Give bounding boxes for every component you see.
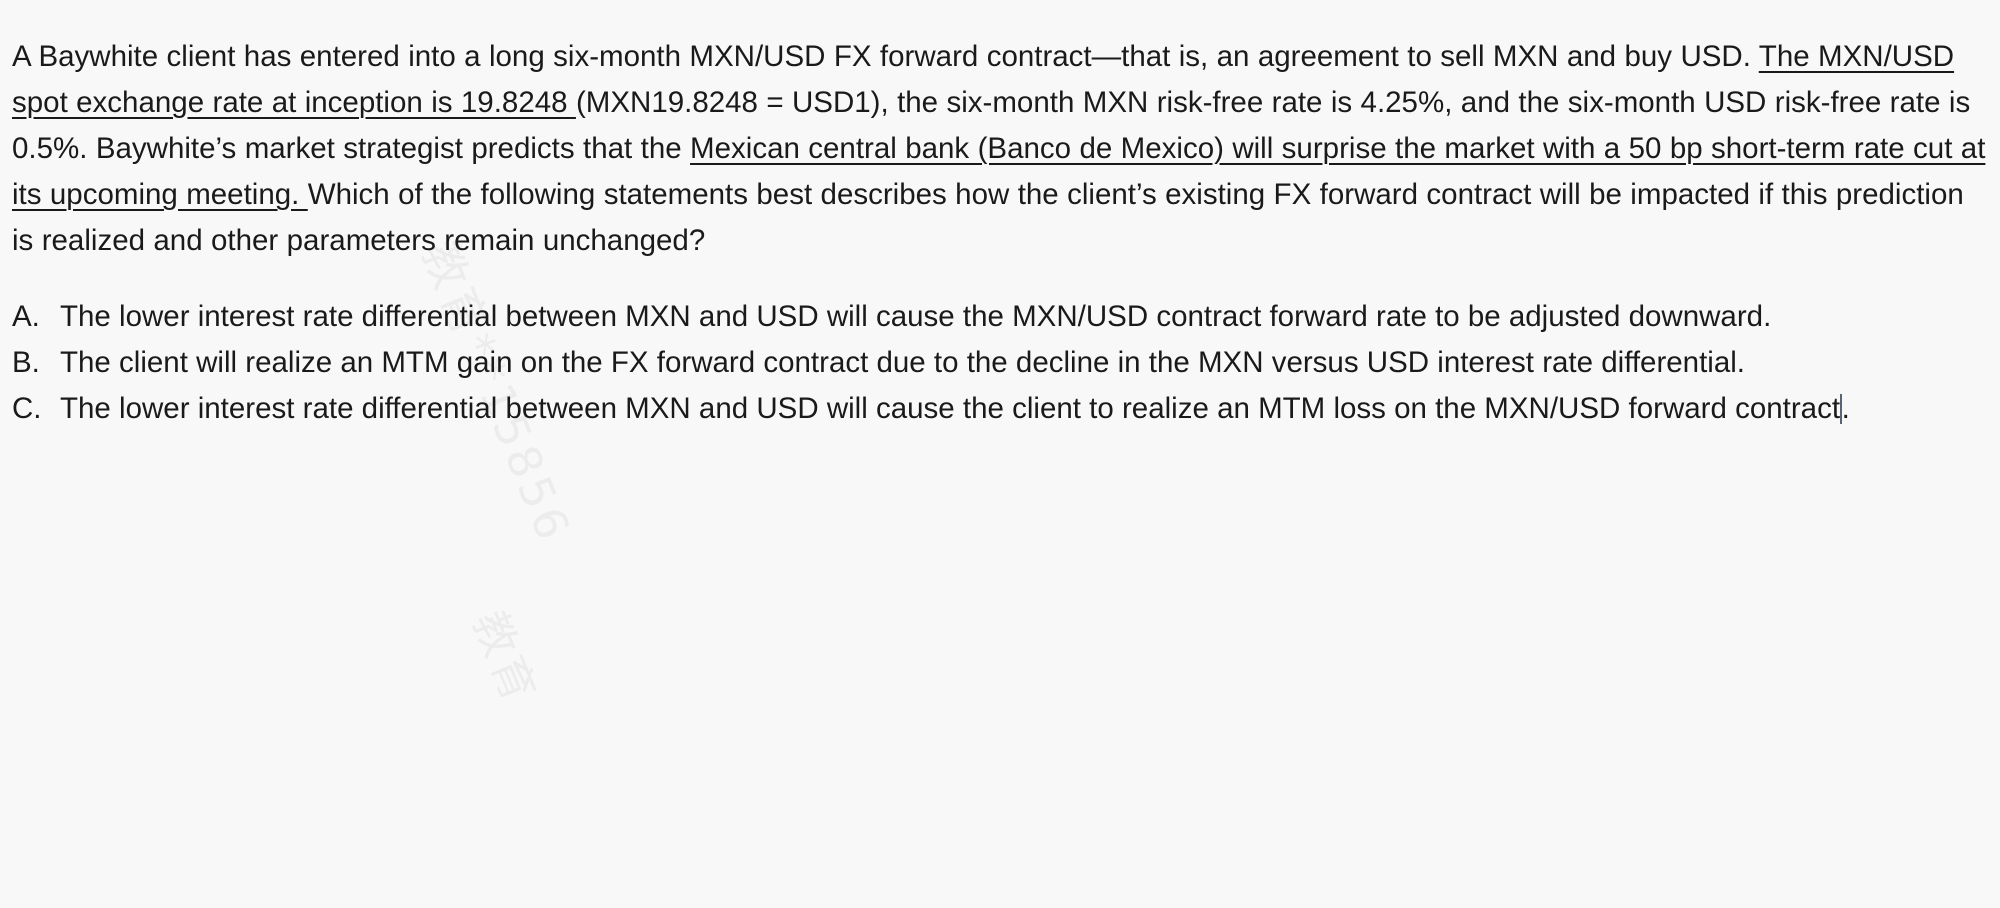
question-stem: A Baywhite client has entered into a lon… xyxy=(12,34,1990,265)
option-c-text: The lower interest rate differential bet… xyxy=(60,386,1990,432)
option-a-text: The lower interest rate differential bet… xyxy=(60,294,1990,340)
option-c-label: C. xyxy=(12,386,60,432)
option-c-text-body: The lower interest rate differential bet… xyxy=(60,392,1850,425)
answer-option-c[interactable]: C. The lower interest rate differential … xyxy=(12,386,2000,432)
stem-part-1: A Baywhite client has entered into a lon… xyxy=(12,40,1759,73)
text-caret xyxy=(1840,394,1842,424)
answer-options-list: A. The lower interest rate differential … xyxy=(12,294,2000,433)
watermark-text-b: 教育 xyxy=(461,600,556,713)
question-document: A Baywhite client has entered into a lon… xyxy=(0,0,2000,433)
answer-option-b[interactable]: B. The client will realize an MTM gain o… xyxy=(12,340,2000,386)
option-b-label: B. xyxy=(12,340,60,386)
option-a-label: A. xyxy=(12,294,60,340)
answer-option-a[interactable]: A. The lower interest rate differential … xyxy=(12,294,2000,340)
option-b-text: The client will realize an MTM gain on t… xyxy=(60,340,1990,386)
